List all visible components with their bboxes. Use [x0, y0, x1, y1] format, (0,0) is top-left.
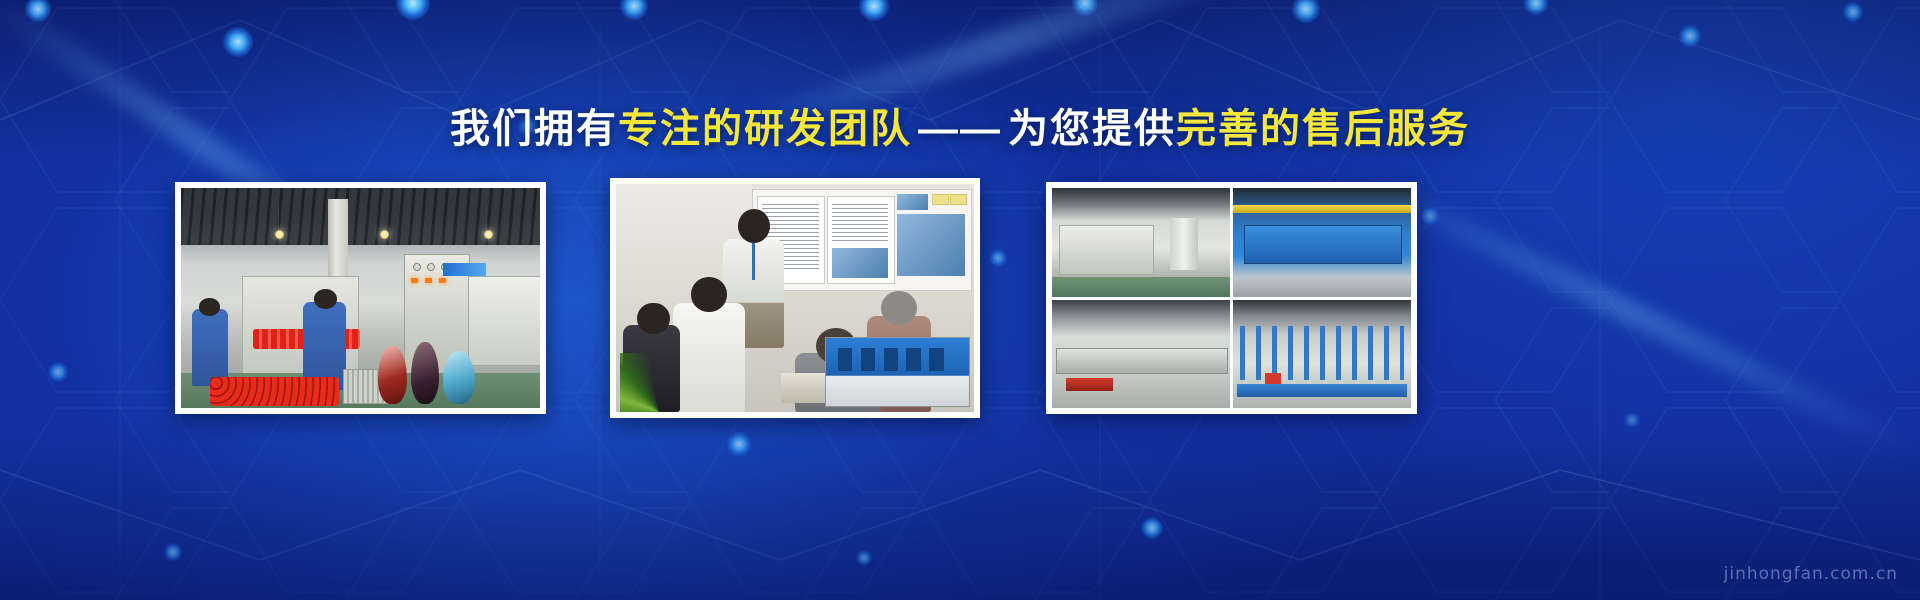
tunnel-furnace [1059, 225, 1154, 275]
poster-highlight [950, 194, 967, 205]
blue-conveyor-base [1237, 384, 1408, 397]
glass-vase-blue [443, 351, 475, 404]
ceiling-lamp [380, 230, 389, 239]
poster-diagram [897, 214, 965, 276]
blue-oven-line [1244, 225, 1403, 264]
workshop-floor [1052, 277, 1230, 297]
tunnel-furnace [468, 276, 540, 366]
glow-node [620, 0, 648, 20]
indicator-light [439, 278, 446, 283]
equipment-label [443, 263, 486, 276]
machine-slot [838, 348, 852, 371]
collage-cell-blue-oven [1233, 188, 1411, 297]
site-watermark: jinhongfan.com.cn [1724, 564, 1898, 584]
headline-segment-4: 完善的售后服务 [1176, 107, 1470, 151]
photo-panel-group [0, 182, 1920, 417]
glow-node [164, 543, 182, 561]
gauge-dial [427, 263, 435, 271]
promo-banner: 我们拥有专注的研发团队——为您提供完善的售后服务 [0, 0, 1920, 600]
glow-node [1141, 517, 1163, 539]
factory-equipment-collage [1052, 188, 1411, 408]
headline-segment-1: 我们拥有 [450, 107, 618, 151]
glow-node [1843, 2, 1863, 22]
headline-segment-3: 为您提供 [1008, 107, 1176, 151]
production-line-photo [181, 188, 540, 408]
worker-head [199, 298, 221, 316]
red-product-pile [210, 377, 339, 406]
photo-panel-equipment-collage[interactable] [1046, 182, 1417, 414]
glow-node [1679, 25, 1701, 47]
glass-vase-red [378, 346, 407, 403]
storage-silo [1170, 218, 1198, 270]
red-component [1265, 373, 1281, 384]
standing-presenter-head [738, 209, 770, 243]
photo-frame-inner [181, 188, 540, 408]
photo-panel-production-line[interactable] [175, 182, 546, 414]
red-machine-part [1066, 378, 1112, 391]
machine-slot [884, 348, 898, 371]
glow-node [1524, 0, 1548, 15]
poster-highlight [932, 194, 949, 205]
blue-machine-foreground [825, 337, 970, 407]
poster-text-lines [832, 204, 889, 244]
indicator-light [425, 278, 432, 283]
photo-frame-inner [616, 184, 974, 412]
poster-diagram [832, 248, 889, 278]
glow-node [396, 0, 430, 20]
poster-photo [897, 194, 928, 210]
glow-node [727, 432, 751, 456]
lamp-stem [382, 201, 383, 232]
technical-poster-board [752, 189, 972, 291]
seated-woman-right-head [881, 291, 917, 325]
collage-cell-conveyor [1052, 300, 1230, 409]
gauge-dial [413, 263, 421, 271]
headline: 我们拥有专注的研发团队——为您提供完善的售后服务 [0, 105, 1920, 153]
yellow-pipe [1233, 205, 1411, 213]
collage-cell-workshop [1052, 188, 1230, 297]
indicator-light [411, 278, 418, 283]
photo-panel-rd-meeting[interactable] [610, 178, 980, 418]
photo-frame-inner [1052, 188, 1411, 408]
glow-node [859, 0, 889, 21]
machine-slot [906, 348, 920, 371]
machine-slot [929, 348, 943, 371]
lanyard [752, 243, 755, 279]
seated-woman-left-head [637, 303, 669, 335]
glow-node [1292, 0, 1320, 23]
foreground-plant [620, 353, 699, 412]
glow-node [856, 550, 872, 566]
lamp-stem [278, 206, 279, 232]
worker-head [314, 289, 337, 309]
hanging-rack-array [1240, 326, 1404, 380]
headline-segment-dash: —— [912, 107, 1008, 151]
glow-node [223, 27, 253, 57]
worker-left [192, 309, 228, 386]
headline-segment-2: 专注的研发团队 [618, 107, 912, 151]
machine-slot [861, 348, 875, 371]
collage-cell-coating-line [1233, 300, 1411, 409]
rd-team-meeting-photo [616, 184, 974, 412]
seated-man-head [691, 277, 727, 311]
lamp-stem [486, 203, 487, 232]
conveyor-line [1056, 348, 1229, 374]
ceiling-lamp [484, 230, 493, 239]
